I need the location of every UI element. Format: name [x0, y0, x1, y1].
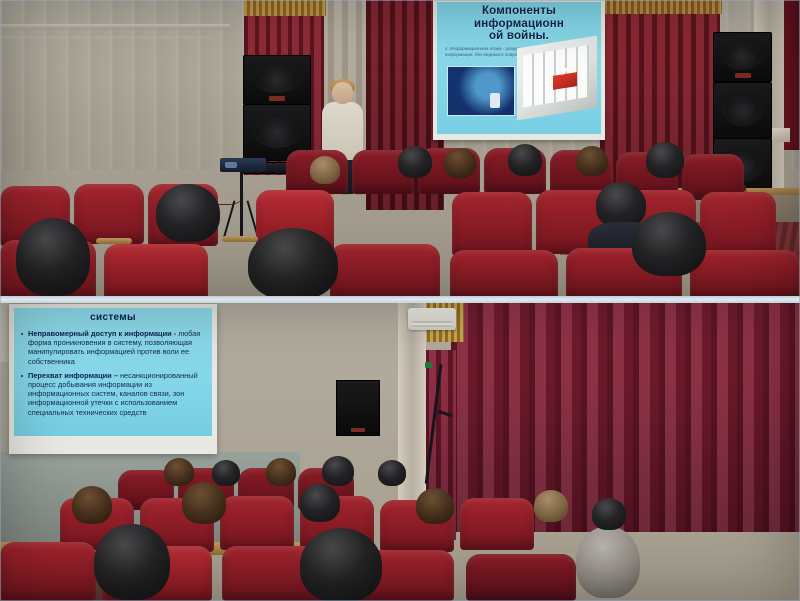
wall-cornice	[0, 24, 230, 29]
pa-speaker	[336, 380, 380, 436]
student-head	[534, 490, 568, 522]
slide-information-threats: системы Неправомерный доступ к информаци…	[14, 308, 212, 436]
theater-seat	[690, 250, 800, 299]
student-head	[248, 228, 338, 299]
student-head	[576, 146, 608, 176]
air-conditioner	[408, 308, 456, 330]
student-head	[94, 524, 170, 600]
speaker-cone-icon	[254, 67, 300, 93]
presenter-head	[332, 82, 353, 104]
pa-speaker-left-top	[243, 55, 311, 105]
speaker-cone-icon	[723, 44, 763, 70]
speaker-cone-icon	[254, 117, 300, 147]
speaker-badge	[269, 96, 285, 101]
theater-seat	[452, 192, 532, 256]
student-head	[576, 526, 640, 598]
theater-seat	[220, 496, 294, 550]
student-head	[646, 142, 684, 178]
student-head	[212, 460, 240, 486]
slide-components-of-information-war: Компоненты информационн ой войны. 4. Инф…	[437, 2, 601, 134]
student-head	[444, 148, 476, 178]
panel-divider	[0, 296, 800, 303]
theater-seat	[74, 184, 144, 244]
slide-header: системы	[14, 312, 212, 323]
student-head	[508, 144, 542, 176]
slide-title: Компоненты информационн ой войны.	[437, 5, 601, 43]
slide-bullet: Неправомерный доступ к информации - люба…	[20, 329, 206, 366]
exit-sign-icon	[425, 362, 432, 368]
theater-seat	[104, 244, 208, 299]
theater-seat	[450, 250, 558, 299]
hooded-hacker-photo	[447, 66, 515, 116]
theater-seat	[330, 244, 440, 299]
slide-bullet-list: Неправомерный доступ к информации - люба…	[14, 329, 212, 417]
speaker-badge	[351, 428, 365, 432]
student-head	[156, 184, 220, 242]
tripod-column	[240, 172, 243, 236]
student-head	[378, 460, 406, 486]
pa-speaker-right-middle	[713, 82, 772, 139]
projection-screen-bottom: системы Неправомерный доступ к информаци…	[9, 304, 217, 454]
pa-speaker-right-top	[713, 32, 772, 82]
student-head	[182, 482, 226, 524]
student-head	[322, 456, 354, 486]
student-head	[164, 458, 194, 486]
projection-screen-top: Компоненты информационн ой войны. 4. Инф…	[433, 0, 605, 140]
slide-bullet: Перехват информации – несанкционированны…	[20, 371, 206, 417]
student-head	[416, 488, 454, 524]
bullet-lead: Неправомерный доступ к информации -	[28, 329, 176, 338]
student-head	[300, 484, 340, 522]
theater-seat	[460, 498, 534, 550]
student-head	[16, 218, 90, 296]
wall-cornice-secondary	[0, 36, 210, 39]
student-head	[72, 486, 112, 524]
speaker-badge	[735, 73, 751, 78]
seat-armrest	[222, 236, 258, 242]
top-photo: Компоненты информационн ой войны. 4. Инф…	[0, 0, 800, 299]
student-head	[300, 528, 382, 601]
theater-seat	[466, 554, 576, 601]
theater-seat	[0, 542, 96, 601]
video-projector	[220, 158, 266, 172]
speaker-cone-icon	[723, 95, 763, 125]
bottom-photo: системы Неправомерный доступ к информаци…	[0, 302, 800, 601]
student-head	[632, 212, 706, 276]
curtain-valance-left	[244, 0, 326, 16]
curtain-valance-right	[598, 0, 722, 14]
student-head	[592, 498, 626, 530]
theater-seat	[700, 192, 776, 256]
screenshot-root: Компоненты информационн ой войны. 4. Инф…	[0, 0, 800, 601]
student-head	[398, 146, 432, 178]
student-head	[310, 156, 340, 184]
bullet-lead: Перехват информации –	[28, 371, 118, 380]
student-head	[266, 458, 296, 486]
